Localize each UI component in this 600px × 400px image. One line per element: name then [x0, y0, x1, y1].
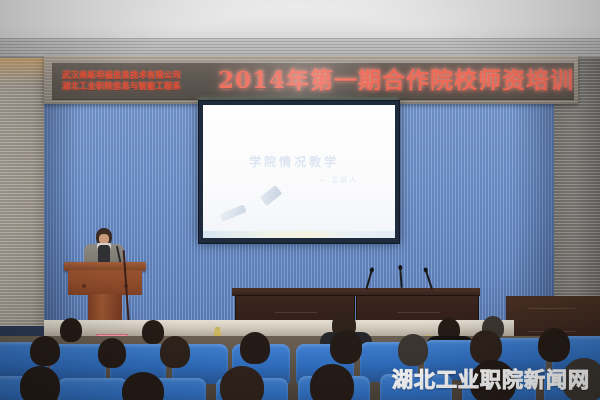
- audience-head: [398, 334, 428, 366]
- audience-head: [310, 364, 354, 400]
- banner-organizer-line-1: 武汉美斯坦福信息技术有限公司: [62, 71, 218, 80]
- audience-head: [60, 318, 82, 342]
- audience-head: [240, 332, 270, 364]
- audience-head: [98, 338, 126, 368]
- audience-chair: [58, 378, 128, 400]
- slide-decor-shape-b: [220, 204, 247, 221]
- slide-decor-shape-a: [259, 185, 282, 206]
- wall-left: [0, 58, 46, 326]
- slide-footer-band: [203, 231, 395, 238]
- audience-head: [470, 330, 502, 364]
- banner-organizer-line-2: 湖北工业职院信息与智能工程系: [62, 82, 218, 91]
- slide-subtitle-text: — 主讲人: [318, 175, 358, 185]
- audience-head: [220, 366, 264, 400]
- projection-screen-surface: 学院情况教学 — 主讲人: [203, 105, 395, 238]
- audience-head: [538, 328, 570, 362]
- audience-head: [142, 320, 164, 344]
- banner-organizer-block: 武汉美斯坦福信息技术有限公司 湖北工业职院信息与智能工程系: [52, 71, 218, 91]
- banner-title: 2014年第一期合作院校师资培训: [218, 68, 574, 94]
- podium-knob-left: [82, 284, 86, 288]
- event-banner: 武汉美斯坦福信息技术有限公司 湖北工业职院信息与智能工程系 2014年第一期合作…: [52, 62, 574, 100]
- conference-hall-photo: 武汉美斯坦福信息技术有限公司 湖北工业职院信息与智能工程系 2014年第一期合作…: [0, 0, 600, 400]
- audience-head: [330, 330, 362, 364]
- ceiling: [0, 0, 600, 40]
- audience-head: [20, 366, 60, 400]
- podium-front-panel: [68, 270, 142, 295]
- projection-screen-frame: 学院情况教学 — 主讲人: [198, 100, 400, 244]
- audience-head: [30, 336, 60, 366]
- watermark-text: 湖北工业职院新闻网: [392, 364, 590, 394]
- audience-head: [160, 336, 190, 368]
- slide-title-text: 学院情况教学: [249, 153, 339, 170]
- wall-left-light-glow: [0, 58, 46, 84]
